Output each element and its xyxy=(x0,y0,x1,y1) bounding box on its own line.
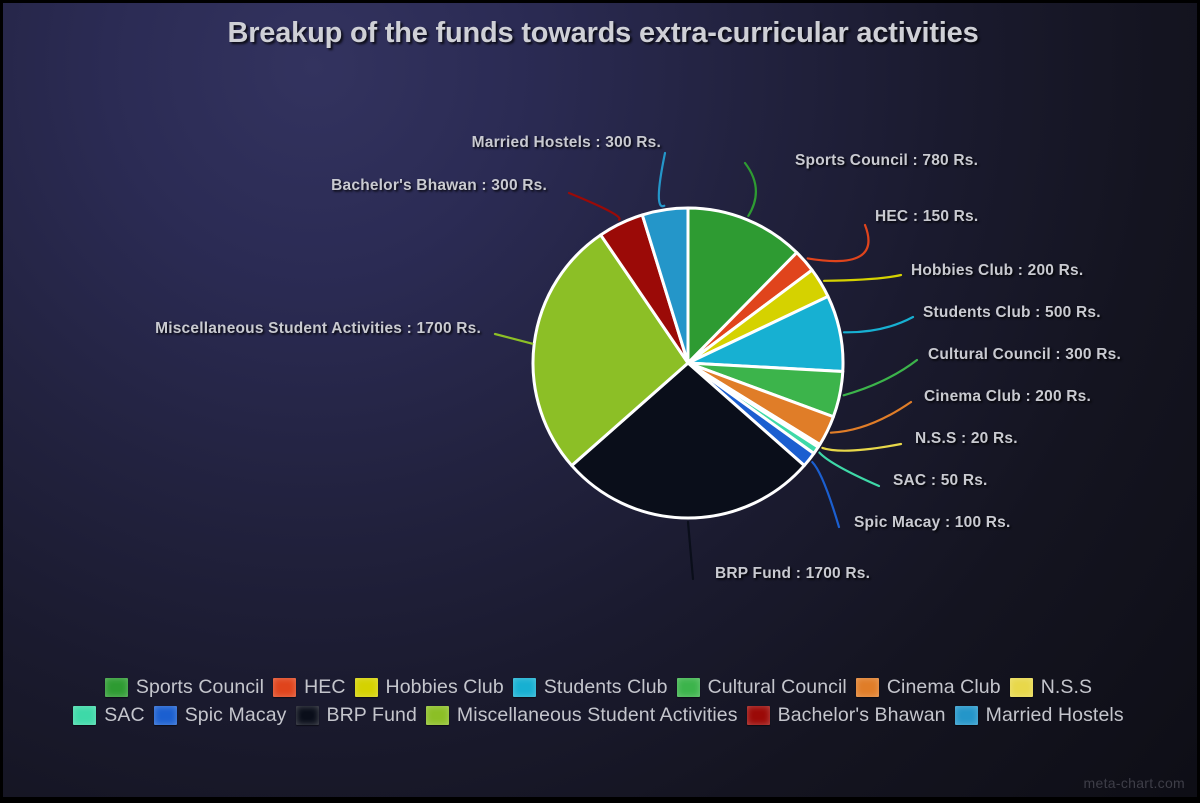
slice-callout-label: Married Hostels : 300 Rs. xyxy=(3,134,661,152)
leader-line xyxy=(844,317,913,332)
legend-item[interactable]: Married Hostels xyxy=(955,703,1124,727)
legend-item[interactable]: Students Club xyxy=(513,675,668,699)
legend-item-label: Sports Council xyxy=(136,676,264,699)
leader-line xyxy=(569,193,620,220)
leader-line xyxy=(844,360,917,395)
legend-item[interactable]: BRP Fund xyxy=(296,703,417,727)
legend-item-label: HEC xyxy=(304,676,345,699)
legend-item-label: Miscellaneous Student Activities xyxy=(457,704,738,727)
legend-swatch-icon xyxy=(513,678,536,697)
slice-callout-label: Spic Macay : 100 Rs. xyxy=(854,514,1011,532)
leader-line xyxy=(659,153,665,206)
legend-item-label: BRP Fund xyxy=(327,704,417,727)
legend-swatch-icon xyxy=(955,706,978,725)
legend-swatch-icon xyxy=(154,706,177,725)
leader-line xyxy=(824,275,901,281)
legend-item-label: SAC xyxy=(104,704,144,727)
leader-line xyxy=(688,522,693,579)
legend-item[interactable]: Spic Macay xyxy=(154,703,287,727)
slice-callout-label: N.S.S : 20 Rs. xyxy=(915,430,1018,448)
leader-line xyxy=(495,334,532,344)
legend-swatch-icon xyxy=(73,706,96,725)
leader-line xyxy=(808,225,869,261)
legend-swatch-icon xyxy=(677,678,700,697)
legend-item-label: Cultural Council xyxy=(708,676,847,699)
pie-slice-group xyxy=(533,208,843,518)
legend-item-label: Cinema Club xyxy=(887,676,1001,699)
legend-swatch-icon xyxy=(856,678,879,697)
leader-line xyxy=(819,453,879,486)
legend-swatch-icon xyxy=(273,678,296,697)
slice-callout-label: Miscellaneous Student Activities : 1700 … xyxy=(3,320,481,338)
legend-item-label: Hobbies Club xyxy=(386,676,504,699)
slice-callout-label: Sports Council : 780 Rs. xyxy=(795,152,978,170)
legend-item[interactable]: Bachelor's Bhawan xyxy=(747,703,946,727)
slice-callout-label: Cultural Council : 300 Rs. xyxy=(928,346,1121,364)
chart-canvas: Breakup of the funds towards extra-curri… xyxy=(0,0,1200,800)
legend-swatch-icon xyxy=(1010,678,1033,697)
legend-item[interactable]: Sports Council xyxy=(105,675,264,699)
legend-item[interactable]: Miscellaneous Student Activities xyxy=(426,703,738,727)
leader-line xyxy=(822,444,901,451)
legend-swatch-icon xyxy=(426,706,449,725)
leader-line xyxy=(812,462,839,527)
legend-item-label: Bachelor's Bhawan xyxy=(778,704,946,727)
leader-line xyxy=(745,163,756,216)
legend-item-label: N.S.S xyxy=(1041,676,1092,699)
legend-item-label: Married Hostels xyxy=(986,704,1124,727)
legend-item-label: Spic Macay xyxy=(185,704,287,727)
legend-item-label: Students Club xyxy=(544,676,668,699)
slice-callout-label: Bachelor's Bhawan : 300 Rs. xyxy=(3,177,547,195)
slice-callout-label: Hobbies Club : 200 Rs. xyxy=(911,262,1083,280)
slice-callout-label: HEC : 150 Rs. xyxy=(875,208,978,226)
legend-swatch-icon xyxy=(355,678,378,697)
slice-callout-label: SAC : 50 Rs. xyxy=(893,472,988,490)
legend-item[interactable]: HEC xyxy=(273,675,345,699)
legend-item[interactable]: N.S.S xyxy=(1010,675,1092,699)
legend-item[interactable]: Cinema Club xyxy=(856,675,1001,699)
legend-swatch-icon xyxy=(105,678,128,697)
attribution-footer: meta-chart.com xyxy=(1084,775,1185,791)
legend-item[interactable]: Hobbies Club xyxy=(355,675,504,699)
legend-swatch-icon xyxy=(296,706,319,725)
chart-legend: Sports CouncilHECHobbies ClubStudents Cl… xyxy=(3,675,1200,727)
legend-swatch-icon xyxy=(747,706,770,725)
slice-callout-label: BRP Fund : 1700 Rs. xyxy=(715,565,870,583)
slice-callout-label: Cinema Club : 200 Rs. xyxy=(924,388,1091,406)
legend-item[interactable]: SAC xyxy=(73,703,144,727)
leader-line xyxy=(831,402,911,433)
legend-item[interactable]: Cultural Council xyxy=(677,675,847,699)
slice-callout-label: Students Club : 500 Rs. xyxy=(923,304,1101,322)
